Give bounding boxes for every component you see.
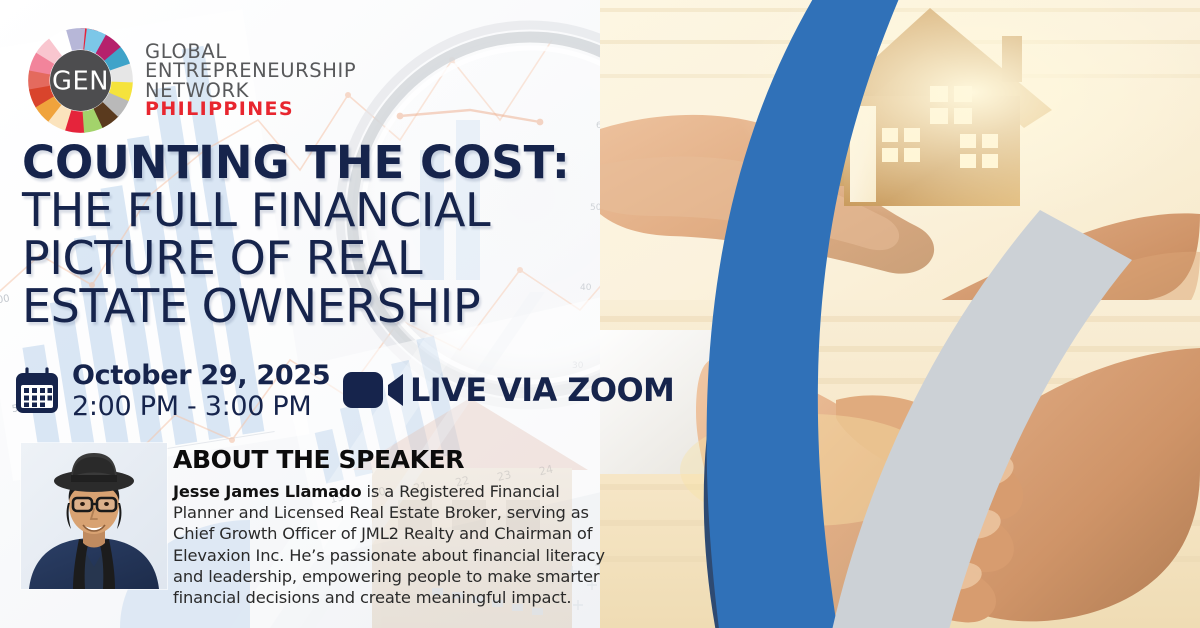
speaker-headshot (21, 443, 167, 589)
speaker-name: Jesse James Llamado (173, 482, 362, 501)
logo-word-entrepreneurship: ENTREPRENEURSHIP (145, 61, 356, 81)
title-line-1: COUNTING THE COST: (22, 141, 642, 185)
logo-wordmark: GLOBAL ENTREPRENEURSHIP NETWORK PHILIPPI… (145, 42, 356, 120)
gen-color-wheel-logo: GEN (27, 27, 134, 134)
event-time: 2:00 PM - 3:00 PM (72, 393, 330, 421)
speaker-portrait-svg (21, 443, 167, 589)
calendar-icon (14, 367, 60, 415)
speaker-info: ABOUT THE SPEAKER Jesse James Llamado is… (173, 447, 625, 608)
gen-philippines-logo: GEN GLOBAL ENTREPRENEURSHIP NETWORK PHIL… (27, 27, 356, 134)
title-line-3: PICTURE OF REAL (22, 236, 642, 281)
speaker-heading: ABOUT THE SPEAKER (173, 447, 625, 472)
event-platform: LIVE VIA ZOOM (342, 370, 674, 410)
event-poster: 200 150 100 50 (0, 0, 1200, 628)
speaker-bio: Jesse James Llamado is a Registered Fina… (173, 481, 625, 608)
title-line-2: THE FULL FINANCIAL (22, 188, 642, 233)
logo-word-philippines: PHILIPPINES (145, 100, 356, 119)
event-date: October 29, 2025 (72, 362, 330, 390)
event-datetime: October 29, 2025 2:00 PM - 3:00 PM (14, 362, 330, 420)
video-camera-icon (342, 370, 404, 410)
page-title: COUNTING THE COST: THE FULL FINANCIAL PI… (22, 141, 642, 329)
platform-label: LIVE VIA ZOOM (410, 371, 674, 409)
title-line-4: ESTATE OWNERSHIP (22, 284, 642, 329)
logo-monogram: GEN (52, 67, 109, 97)
datetime-text: October 29, 2025 2:00 PM - 3:00 PM (72, 362, 330, 420)
